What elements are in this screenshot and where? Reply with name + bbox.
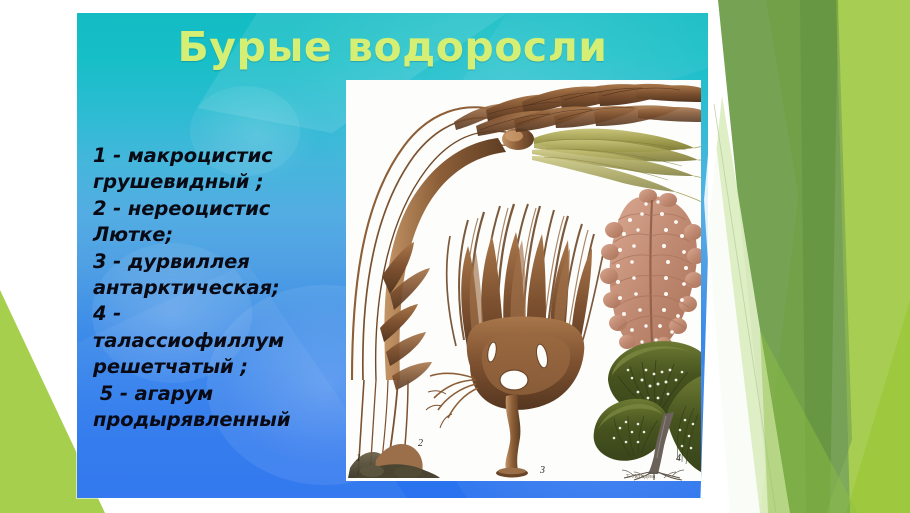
list-item: 5 - агарум xyxy=(93,381,336,407)
illustration-signature: Т. Лебедева xyxy=(626,473,656,480)
algae-illustration-svg: 1 2 xyxy=(346,80,701,481)
species-list: 1 - макроцистис грушевидный ; 2 - нереоц… xyxy=(93,143,336,433)
page-title: Бурые водоросли xyxy=(77,22,708,72)
list-item: антарктическая; xyxy=(93,275,336,301)
figure-label-3: 3 xyxy=(539,465,545,476)
list-item: грушевидный ; xyxy=(93,169,336,195)
list-item: продырявленный xyxy=(93,407,336,433)
list-item: решетчатый ; xyxy=(93,354,336,380)
list-item: 2 - нереоцистис xyxy=(93,196,336,222)
list-item: талассиофиллум xyxy=(93,328,336,354)
list-item: Лютке; xyxy=(93,222,336,248)
list-item: 1 - макроцистис xyxy=(93,143,336,169)
list-item: 4 - xyxy=(93,301,336,327)
list-item: 3 - дурвиллея xyxy=(93,249,336,275)
figure-label-1: 1 xyxy=(356,453,361,464)
presentation-slide: Бурые водоросли 1 - макроцистис грушевид… xyxy=(0,0,910,513)
algae-illustration: 1 2 xyxy=(346,80,701,481)
figure-label-2: 2 xyxy=(418,438,423,449)
figure-label-4: 4 xyxy=(676,453,681,464)
